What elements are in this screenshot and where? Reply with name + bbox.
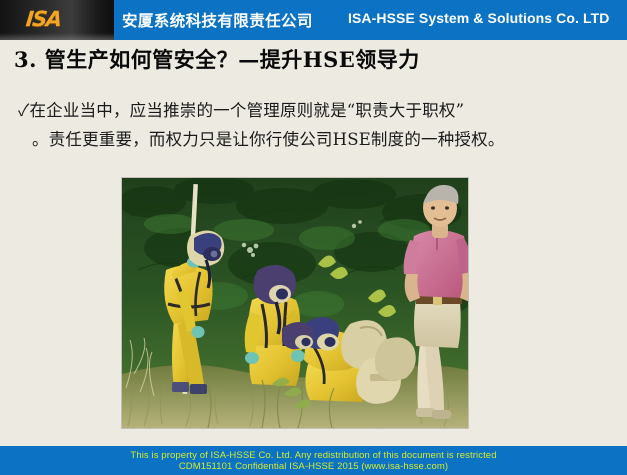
body-line-1: ✓在企业当中，应当推崇的一个管理原则就是“职责大于职权” [18,96,618,125]
logo-panel: ISA [0,0,114,40]
footer-document-id-line: CDM151101 Confidential ISA-HSSE 2015 (ww… [0,461,627,472]
body-line-2: 。责任更重要，而权力只是让你行使公司HSE制度的一种授权。 [18,125,618,154]
hazmat-workers-field-photo [122,178,468,428]
presentation-slide: ISA 安厦系统科技有限责任公司 ISA-HSSE System & Solut… [0,0,627,475]
isa-logo-icon: ISA [25,8,62,30]
photo-illustration [122,178,468,428]
footer-copyright-line: This is property of ISA-HSSE Co. Ltd. An… [0,450,627,461]
slide-footer-bar: This is property of ISA-HSSE Co. Ltd. An… [0,446,627,475]
header-company-name-en: ISA-HSSE System & Solutions Co. LTD [348,10,610,26]
slide-header-bar: ISA 安厦系统科技有限责任公司 ISA-HSSE System & Solut… [0,0,627,40]
slide-title: 3. 管生产如何管安全？—提升HSE领导力 [14,44,420,74]
slide-body-text: ✓在企业当中，应当推崇的一个管理原则就是“职责大于职权” 。责任更重要，而权力只… [18,96,618,154]
header-company-name-cn: 安厦系统科技有限责任公司 [122,9,313,31]
